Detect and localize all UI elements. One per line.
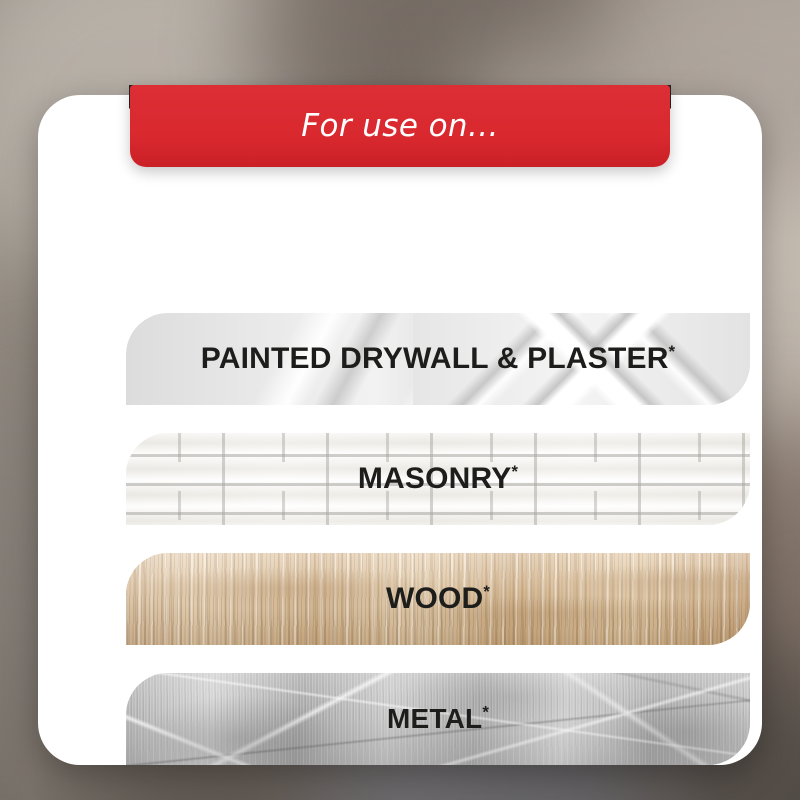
surface-label-metal: METAL*	[387, 703, 489, 734]
surface-bar-wood: WOOD*	[126, 553, 750, 645]
footnote-marker: *	[482, 703, 489, 722]
surface-bar-masonry: MASONRY*	[126, 433, 750, 525]
content-card: PAINTED DRYWALL & PLASTER* MASONRY* WOOD…	[38, 95, 762, 765]
surface-label-wrap: MASONRY*	[348, 462, 528, 496]
surface-list: PAINTED DRYWALL & PLASTER* MASONRY* WOOD…	[126, 313, 750, 765]
footnote-marker: *	[512, 463, 519, 481]
surface-label-masonry: MASONRY*	[358, 462, 518, 495]
surface-label-painted-drywall-plaster: PAINTED DRYWALL & PLASTER*	[201, 342, 675, 375]
ribbon-banner: For use on...	[130, 85, 670, 167]
surface-label-wrap: WOOD*	[376, 582, 500, 616]
banner-title: For use on...	[301, 108, 499, 144]
surface-bar-metal: METAL*	[126, 673, 750, 765]
ribbon-body: For use on...	[130, 85, 670, 167]
infographic-stage: PAINTED DRYWALL & PLASTER* MASONRY* WOOD…	[0, 0, 800, 800]
footnote-marker: *	[483, 583, 490, 601]
surface-bar-painted-drywall-plaster: PAINTED DRYWALL & PLASTER*	[126, 313, 750, 405]
surface-label-wrap: PAINTED DRYWALL & PLASTER*	[191, 342, 685, 376]
surface-label-wood: WOOD*	[386, 582, 490, 615]
surface-label-wrap: METAL*	[377, 703, 499, 735]
footnote-marker: *	[669, 343, 676, 361]
